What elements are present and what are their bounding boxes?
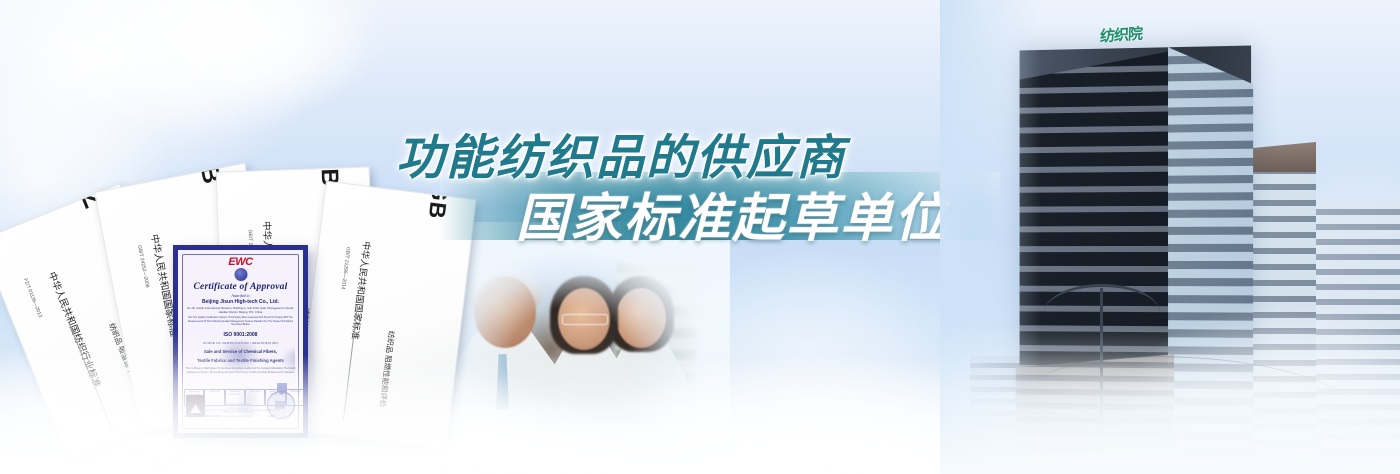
headline-line-2: 国家标准起草单位 bbox=[516, 176, 948, 251]
company-hero-banner: 纺织院 FZ 中华人民共和国纺织行业标准 FZ/T 01136—2013 纺织品… bbox=[0, 0, 1400, 474]
headline-group: 功能纺织品的供应商 国家标准起草单位 bbox=[0, 0, 1400, 474]
rooftop-sign-text: 纺织院 bbox=[1100, 26, 1142, 44]
